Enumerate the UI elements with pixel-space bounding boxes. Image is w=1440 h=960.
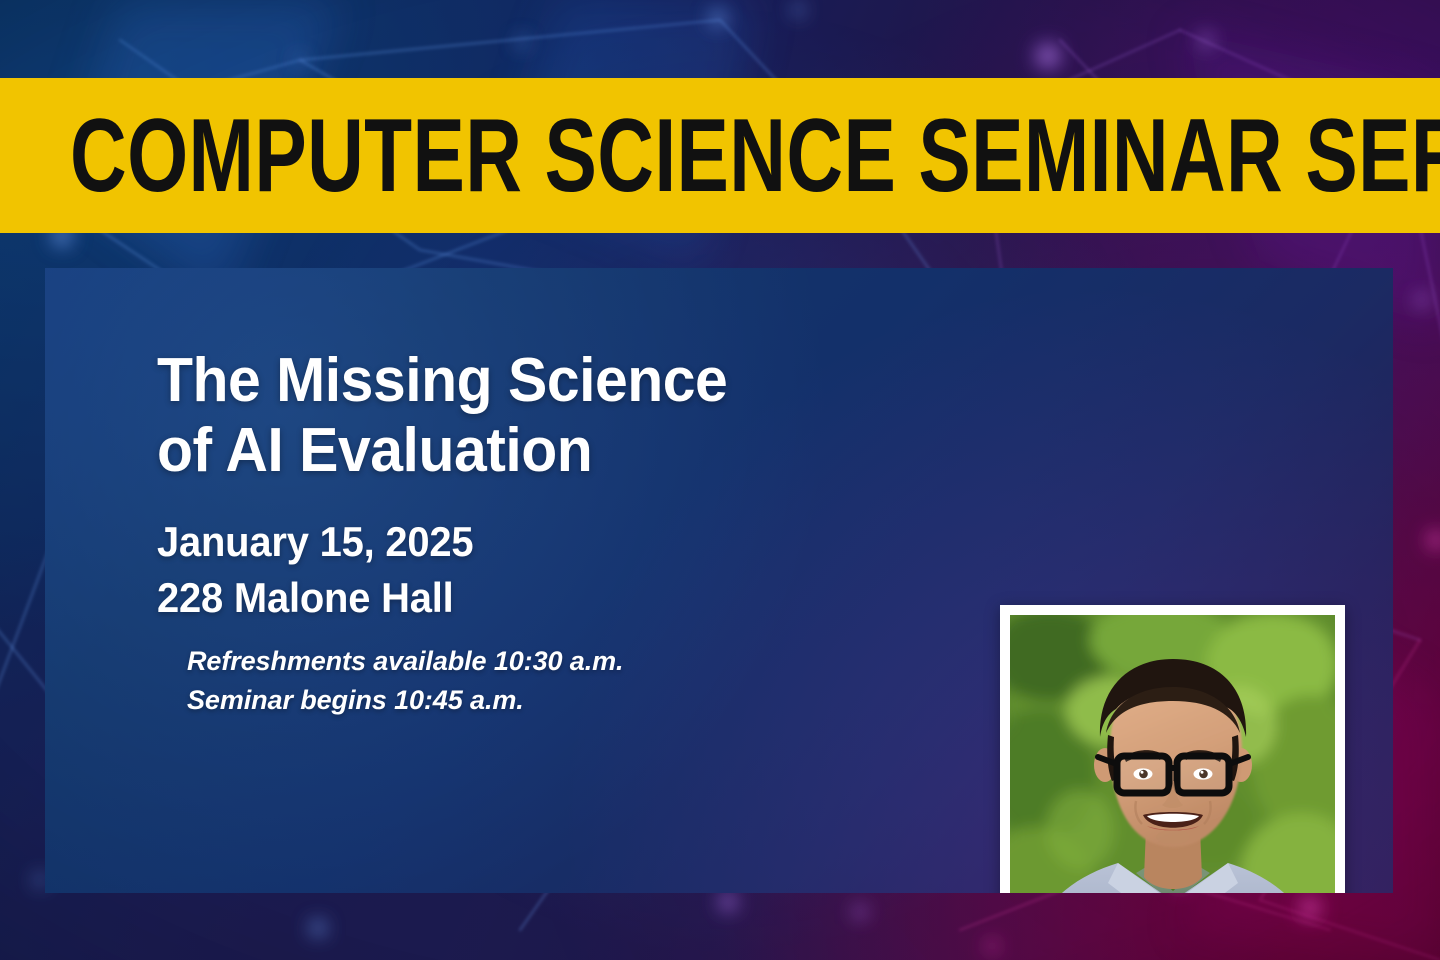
- speaker-photo: [1010, 615, 1335, 893]
- refreshments-note: Refreshments available 10:30 a.m.: [187, 642, 917, 681]
- series-banner: COMPUTER SCIENCE SEMINAR SERIES: [0, 78, 1440, 233]
- seminar-poster: COMPUTER SCIENCE SEMINAR SERIES The Miss…: [0, 0, 1440, 960]
- talk-title: The Missing Science of AI Evaluation: [157, 346, 879, 486]
- event-notes: Refreshments available 10:30 a.m. Semina…: [187, 642, 917, 721]
- speaker-photo-frame: [1000, 605, 1345, 893]
- event-info: January 15, 2025 228 Malone Hall: [157, 514, 917, 626]
- series-banner-title: COMPUTER SCIENCE SEMINAR SERIES: [70, 104, 1440, 208]
- event-location: 228 Malone Hall: [157, 570, 879, 626]
- event-date: January 15, 2025: [157, 514, 879, 570]
- seminar-start-note: Seminar begins 10:45 a.m.: [187, 681, 917, 720]
- talk-details: The Missing Science of AI Evaluation Jan…: [157, 346, 917, 721]
- content-card: The Missing Science of AI Evaluation Jan…: [45, 268, 1393, 893]
- speaker-portrait-illustration: [1010, 615, 1335, 893]
